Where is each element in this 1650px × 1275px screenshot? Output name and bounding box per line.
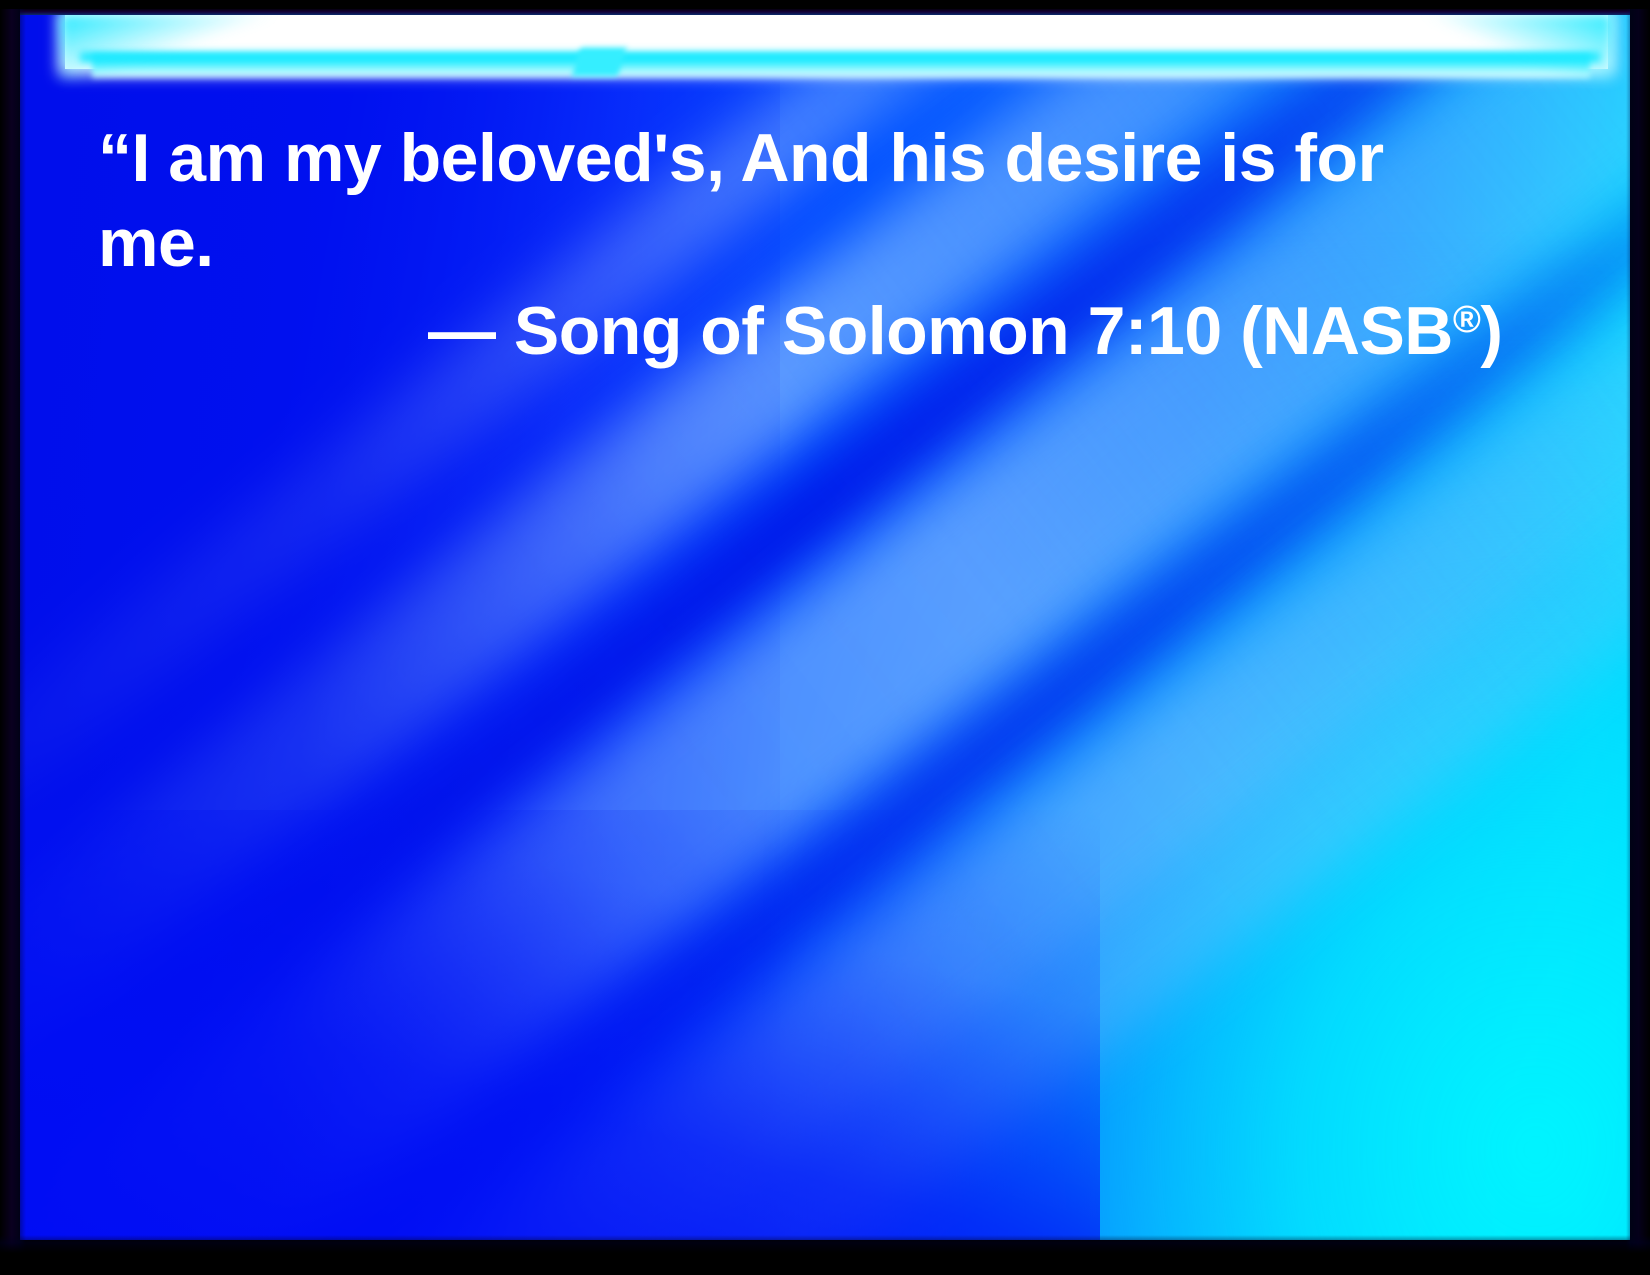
slide-border-right (1626, 0, 1650, 1275)
slide-border-bottom (0, 1235, 1650, 1275)
slide-border-left (0, 0, 26, 1275)
header-band-notch (572, 48, 626, 76)
header-band-right-wedge (1422, 14, 1612, 80)
verse-line-1: “I am my beloved's, And his desire is fo… (98, 116, 1588, 201)
background-bottom-deep-blue (20, 810, 1100, 1240)
verse-reference-dash: — (428, 293, 514, 369)
header-band-left-wedge (60, 14, 280, 80)
registered-trademark-icon: ® (1453, 299, 1481, 341)
verse-reference-close-paren: ) (1480, 293, 1502, 369)
header-band-cyan-line (80, 52, 1600, 62)
slide-background-canvas: “I am my beloved's, And his desire is fo… (20, 8, 1630, 1240)
header-light-band (20, 8, 1630, 94)
slide-border-top (0, 0, 1650, 9)
header-band-top-dark-line (20, 8, 1630, 15)
verse-reference: — Song of Solomon 7:10 (NASB®) (98, 289, 1588, 374)
verse-reference-text: Song of Solomon 7:10 (NASB (514, 293, 1453, 369)
slide-frame: “I am my beloved's, And his desire is fo… (0, 0, 1650, 1275)
verse-line-2: me. (98, 201, 1588, 286)
verse-text-block: “I am my beloved's, And his desire is fo… (98, 116, 1588, 374)
